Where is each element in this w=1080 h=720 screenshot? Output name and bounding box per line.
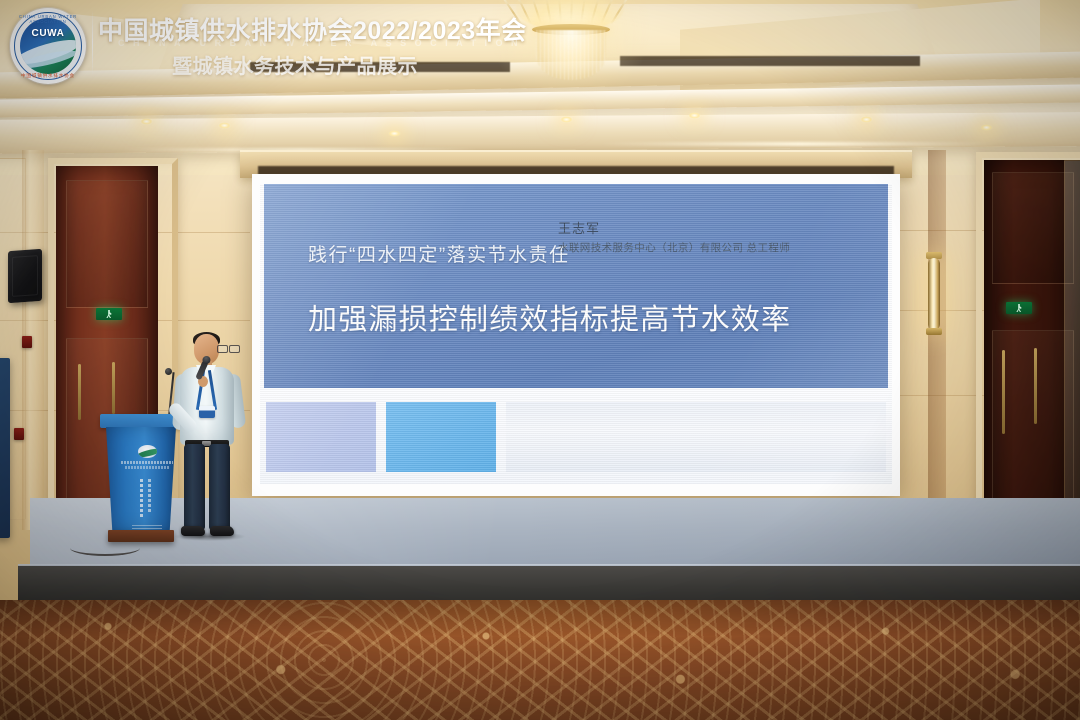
downlight-1 xyxy=(140,118,153,125)
downlight-7 xyxy=(980,124,993,131)
door-right-handle[interactable] xyxy=(1002,350,1005,434)
sconce-cap-bottom xyxy=(926,328,942,335)
floor-cable xyxy=(70,540,140,556)
downlight-5 xyxy=(688,112,701,119)
presenter-shoe-left xyxy=(181,526,205,536)
podium-top-surface xyxy=(100,414,182,428)
slide-footer-band xyxy=(260,388,892,484)
patterned-carpet xyxy=(0,600,1080,720)
slide-hero-band xyxy=(264,184,888,388)
presenter-figure xyxy=(172,334,244,546)
door-left-handle[interactable] xyxy=(78,364,81,420)
ceiling-shadow-slot-left xyxy=(250,62,510,72)
crystal-chandelier xyxy=(510,0,630,82)
exit-sign-right xyxy=(1006,302,1032,314)
wall-panel-far-right xyxy=(1064,160,1080,530)
presenter-name-badge xyxy=(199,406,215,418)
wall-artwork-left xyxy=(0,358,10,538)
slide-color-block-2 xyxy=(386,402,496,472)
running-man-icon xyxy=(106,310,113,318)
podium-front-panel xyxy=(106,427,176,531)
presenter-shoe-right xyxy=(210,526,234,536)
wall-sconce-right xyxy=(928,258,940,330)
downlight-6 xyxy=(860,116,873,123)
slide-speaker-role: 水联网技术服务中心（北京）有限公司 总工程师 xyxy=(558,240,790,255)
pilaster-right-accent xyxy=(928,150,946,550)
door-right-handle-2[interactable] xyxy=(1034,348,1037,424)
downlight-3 xyxy=(388,130,401,137)
downlight-2 xyxy=(218,122,231,129)
microphone-head-gooseneck xyxy=(165,368,172,375)
slide-title: 加强漏损控制绩效指标提高节水效率 xyxy=(308,296,791,338)
fire-alarm-box-upper[interactable] xyxy=(22,336,32,348)
conference-photo-scene: 践行“四水四定”落实节水责任 加强漏损控制绩效指标提高节水效率 王志军 水联网技… xyxy=(0,0,1080,720)
exit-sign-left xyxy=(96,308,122,320)
slide-speaker-name: 王志军 xyxy=(558,218,600,237)
door-left-handle-2[interactable] xyxy=(112,362,115,414)
slide-canvas: 践行“四水四定”落实节水责任 加强漏损控制绩效指标提高节水效率 王志军 水联网技… xyxy=(260,184,892,484)
presenter-leg-right xyxy=(209,444,230,530)
presentation-screen: 践行“四水四定”落实节水责任 加强漏损控制绩效指标提高节水效率 王志军 水联网技… xyxy=(252,174,900,496)
presenter-glasses-icon xyxy=(217,345,240,351)
running-man-icon xyxy=(1016,304,1023,312)
downlight-4 xyxy=(560,116,573,123)
chandelier-crystals xyxy=(536,30,606,80)
podium-text-line-1 xyxy=(121,461,173,464)
door-right-panel-upper xyxy=(992,172,1074,284)
pa-speaker-left xyxy=(8,249,42,303)
slide-speaker-pane xyxy=(506,402,886,472)
presenter-leg-left xyxy=(184,444,205,530)
podium-cuwa-emblem-icon xyxy=(138,445,157,458)
lectern-podium xyxy=(100,414,182,544)
fire-alarm-box-lower[interactable] xyxy=(14,428,24,440)
ceiling-shadow-slot-right xyxy=(620,56,920,66)
slide-subtitle: 践行“四水四定”落实节水责任 xyxy=(308,240,570,267)
podium-vertical-text-2 xyxy=(148,479,151,513)
cove-light-right xyxy=(600,142,1000,146)
podium-vertical-text-1 xyxy=(140,479,143,519)
door-left-panel-upper xyxy=(66,180,148,308)
slide-color-block-1 xyxy=(266,402,376,472)
presenter-legs xyxy=(184,444,230,530)
podium-text-line-2 xyxy=(125,466,169,469)
